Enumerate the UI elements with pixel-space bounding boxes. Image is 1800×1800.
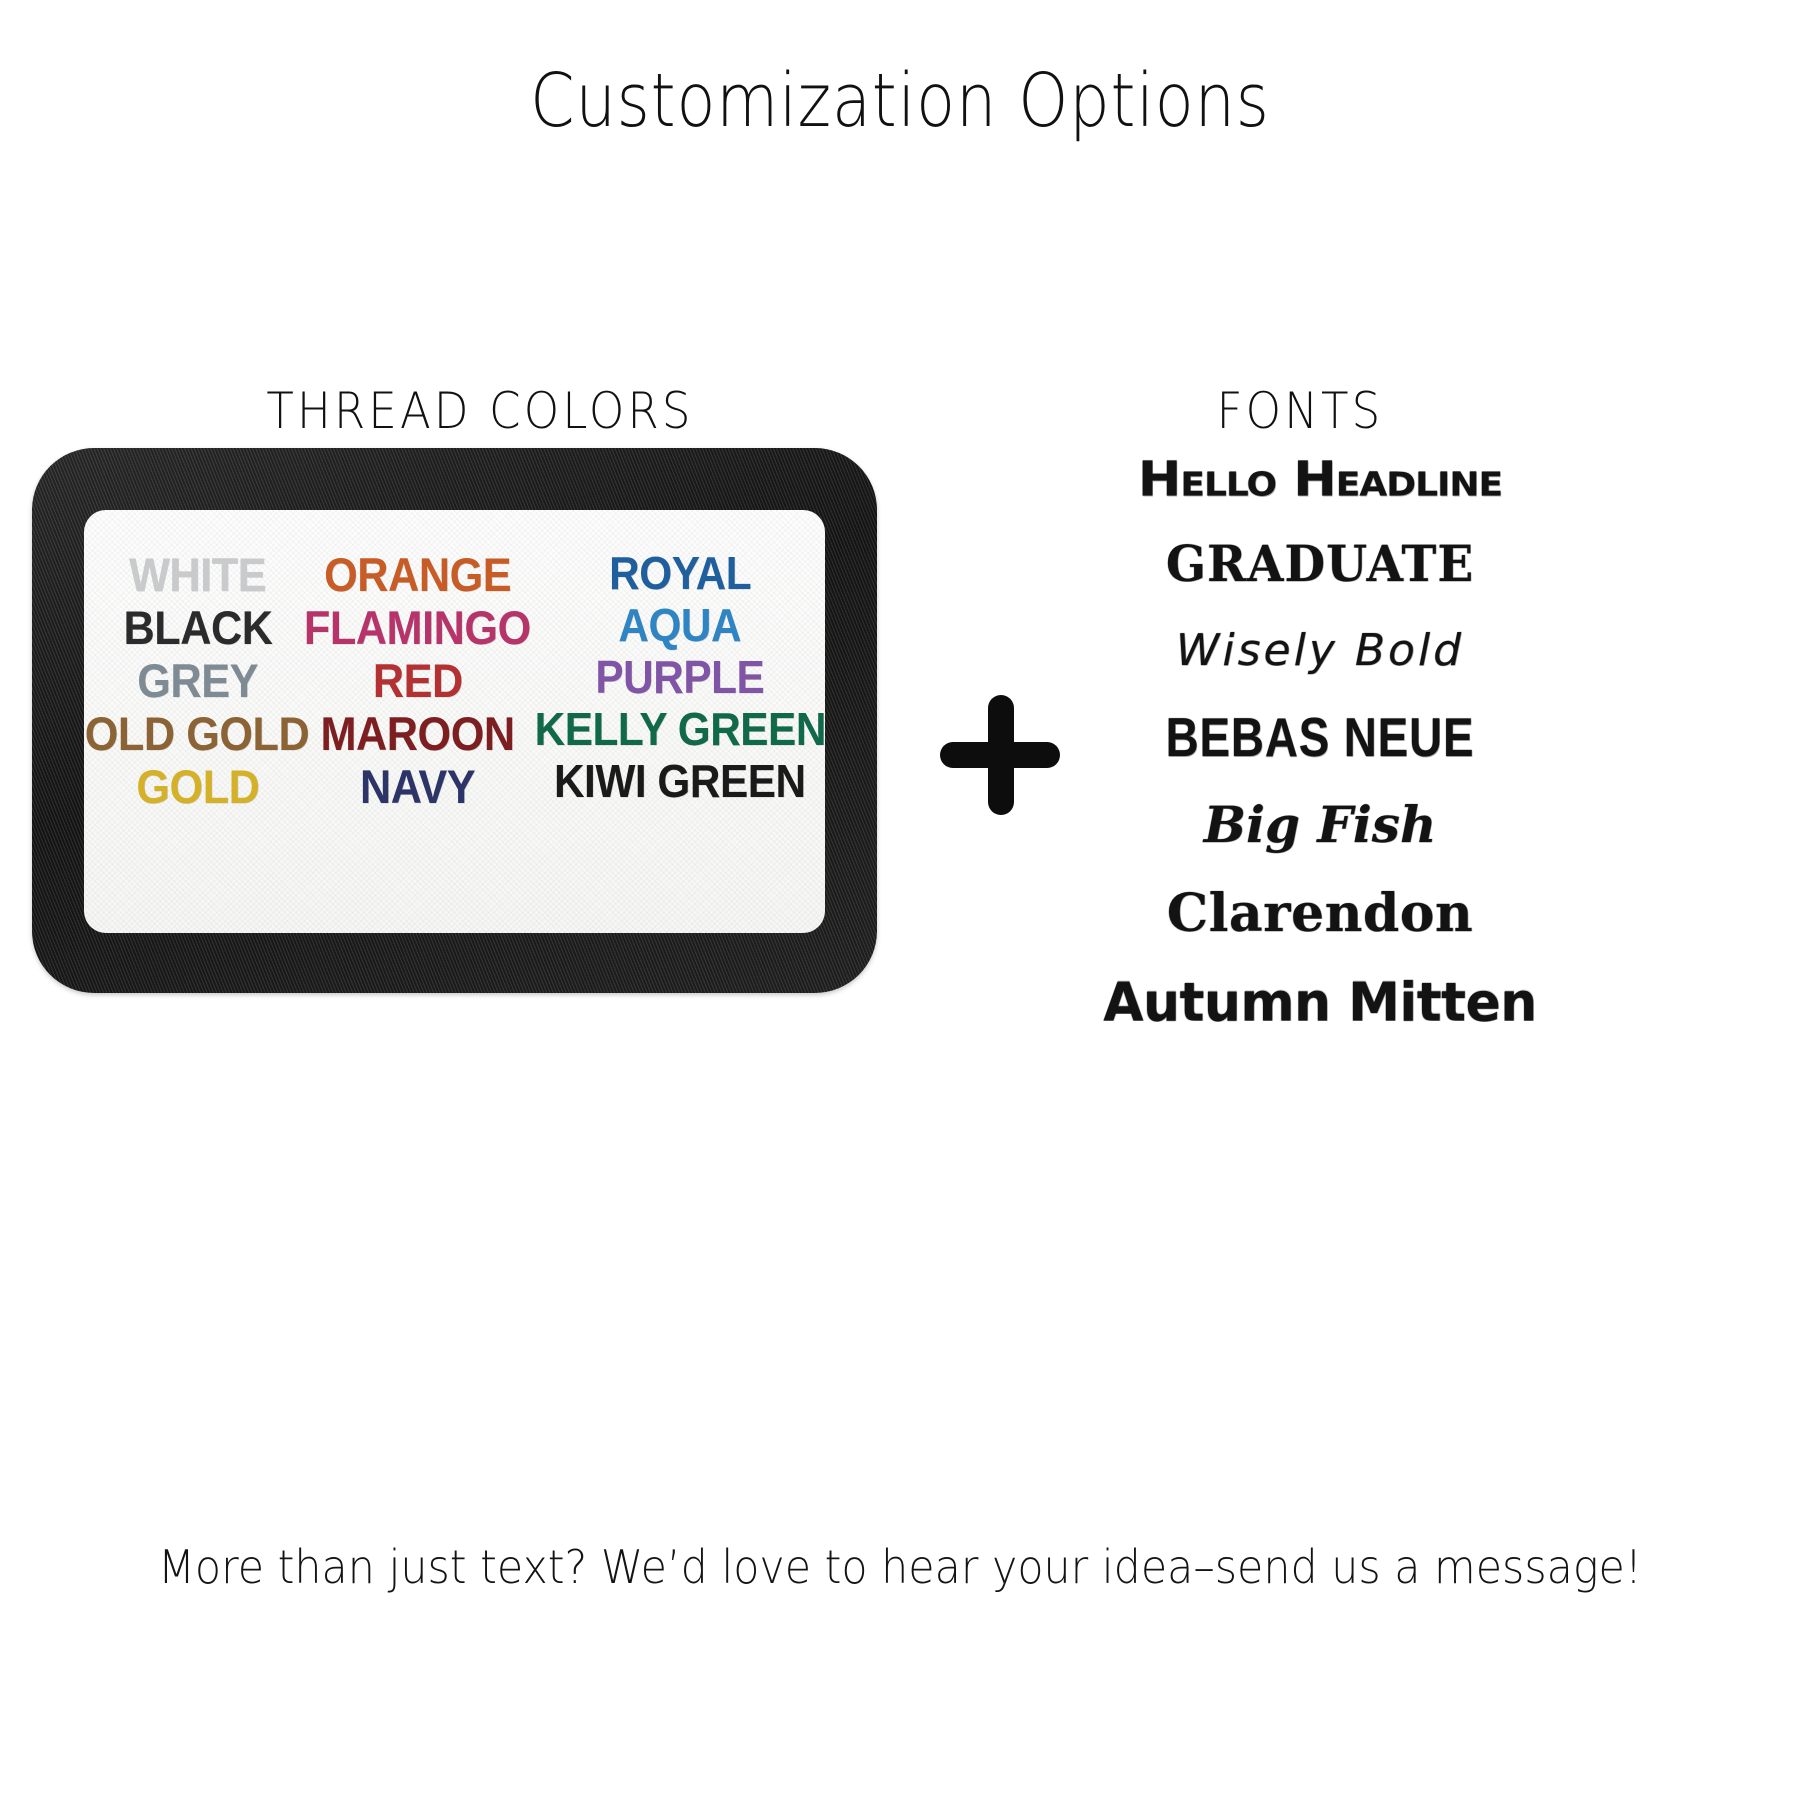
thread-swatch-purple: PURPLE [596,652,765,704]
plus-icon [940,695,1060,815]
thread-swatch-white: WHITE [129,548,266,601]
thread-swatch-royal: ROYAL [609,548,751,600]
font-sample-bebas-neue: BEBAS NEUE [1091,702,1549,774]
thread-color-column-3: ROYAL AQUA PURPLE KELLY GREEN KIWI GREEN [530,548,825,814]
thread-swatch-flamingo: FLAMINGO [304,601,531,654]
font-sample-clarendon: Clarendon [1060,878,1580,950]
thread-swatch-kiwi-green: KIWI GREEN [554,756,806,808]
fonts-heading: FONTS [1066,382,1534,440]
thread-swatch-maroon: MAROON [320,707,514,760]
thread-swatch-navy: NAVY [360,760,475,813]
thread-color-patch: WHITE BLACK GREY OLD GOLD GOLD ORANGE FL… [32,448,877,993]
footer-note: More than just text? We’d love to hear y… [63,1540,1737,1594]
thread-swatch-orange: ORANGE [324,548,511,601]
font-sample-wisely-bold: Wisely Bold [1060,616,1580,686]
font-sample-big-fish: Big Fish [1060,790,1580,860]
thread-swatch-grey: GREY [137,654,258,707]
thread-color-column-1: WHITE BLACK GREY OLD GOLD GOLD [90,548,305,814]
thread-swatch-gold: GOLD [136,760,259,813]
font-sample-hello-headline: Hello Headline [1060,451,1580,510]
thread-swatch-red: RED [373,654,463,707]
thread-colors-heading: THREAD COLORS [102,382,858,440]
font-sample-autumn-mitten: Autumn Mitten [1060,967,1580,1038]
thread-color-column-2: ORANGE FLAMINGO RED MAROON NAVY [305,548,530,814]
page-title: Customization Options [126,58,1674,144]
fonts-list: Hello Headline GRADUATE Wisely Bold BEBA… [1060,448,1580,1056]
patch-fabric-area: WHITE BLACK GREY OLD GOLD GOLD ORANGE FL… [84,510,825,933]
thread-swatch-old-gold: OLD GOLD [85,707,310,760]
thread-swatch-aqua: AQUA [619,600,742,652]
thread-swatch-kelly-green: KELLY GREEN [534,704,825,756]
thread-color-columns: WHITE BLACK GREY OLD GOLD GOLD ORANGE FL… [84,548,825,814]
thread-swatch-black: BLACK [123,601,272,654]
font-sample-graduate: GRADUATE [1076,530,1565,598]
